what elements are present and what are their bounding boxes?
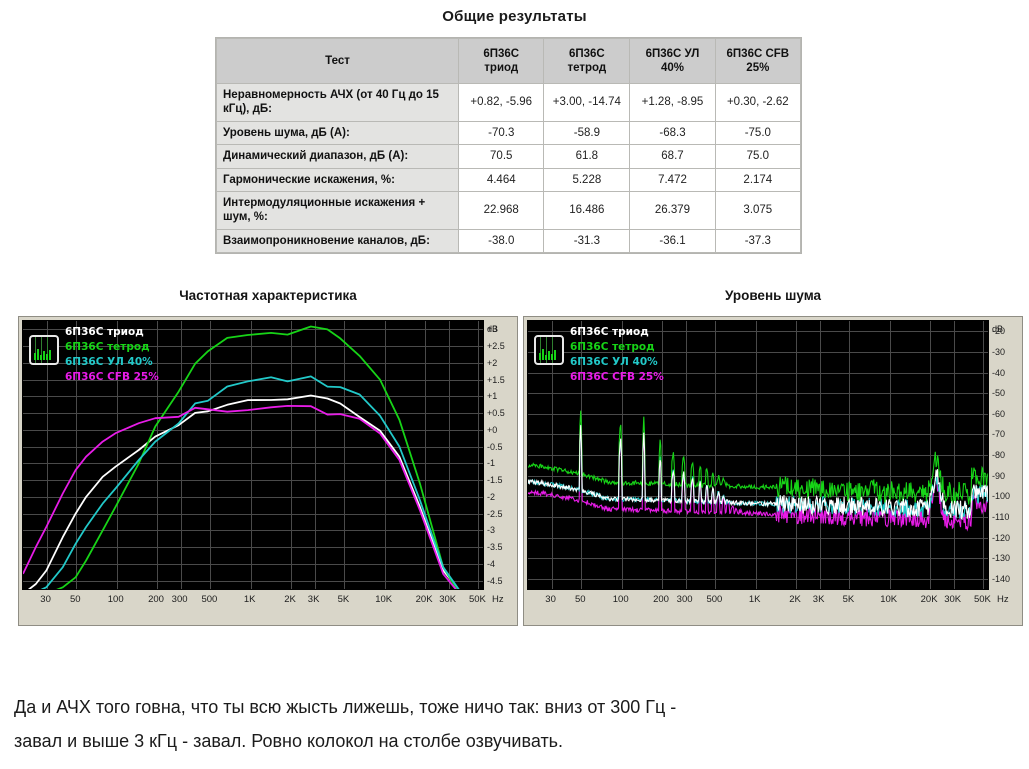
row-value: -38.0: [459, 229, 544, 252]
row-value: -68.3: [630, 121, 715, 144]
x-axis-tick: 30K: [439, 594, 456, 605]
curve-0: [23, 396, 473, 590]
legend-item-ul40: 6П36С УЛ 40%: [65, 355, 159, 370]
row-label: Взаимопроникновение каналов, дБ:: [217, 229, 459, 252]
x-axis-tick: 50K: [974, 594, 991, 605]
row-value: +0.82, -5.96: [459, 84, 544, 122]
column-header-ul40: 6П36С УЛ 40%: [630, 39, 715, 84]
row-label: Неравномерность АЧХ (от 40 Гц до 15 кГц)…: [217, 84, 459, 122]
column-header-tetrod: 6П36С тетрод: [544, 39, 630, 84]
chart-legend: 6П36С триод 6П36С тетрод 6П36С УЛ 40% 6П…: [534, 325, 664, 385]
chart-panel-noise-level: 6П36С триод 6П36С тетрод 6П36С УЛ 40% 6П…: [523, 316, 1023, 626]
y-axis-tick: -90: [992, 471, 1005, 481]
y-axis-tick: +3: [487, 324, 497, 334]
row-label: Динамический диапазон, дБ (А):: [217, 145, 459, 168]
x-axis-tick: 10K: [880, 594, 897, 605]
row-label: Гармонические искажения, %:: [217, 168, 459, 191]
results-table-wrap: Тест 6П36С триод 6П36С тетрод 6П36С УЛ 4…: [216, 38, 801, 253]
x-axis-tick: 30: [40, 594, 51, 605]
row-value: 22.968: [459, 191, 544, 229]
chart-title-noise-level: Уровень шума: [523, 288, 1023, 303]
x-axis-tick: 5K: [338, 594, 350, 605]
row-value: 5.228: [544, 168, 630, 191]
table-body: Неравномерность АЧХ (от 40 Гц до 15 кГц)…: [217, 84, 801, 253]
y-axis-tick: -60: [992, 409, 1005, 419]
y-axis-tick: -20: [992, 326, 1005, 336]
x-axis-tick: 200: [148, 594, 164, 605]
y-axis-tick: +0.5: [487, 408, 505, 418]
chart-legend: 6П36С триод 6П36С тетрод 6П36С УЛ 40% 6П…: [29, 325, 159, 385]
page-root: Общие результаты Тест 6П36С триод 6П36С …: [0, 0, 1029, 769]
y-axis-tick: -1.5: [487, 475, 503, 485]
x-axis-unit: Hz: [997, 594, 1009, 605]
caption-line-1: Да и АЧХ того говна, что ты всю жысть ли…: [14, 690, 1014, 724]
spectrum-2: [528, 425, 988, 519]
y-axis-tick: -0.5: [487, 442, 503, 452]
plot-row: 6П36С триод 6П36С тетрод 6П36С УЛ 40% 6П…: [22, 320, 514, 590]
x-axis-tick: 500: [706, 594, 722, 605]
x-axis-frequency-response: 30501002003005001K2K3K5K10K20K30K50KHz: [22, 590, 514, 612]
row-label: Уровень шума, дБ (А):: [217, 121, 459, 144]
y-axis-tick: -4: [487, 559, 495, 569]
x-axis-tick: 20K: [921, 594, 938, 605]
y-axis-tick: -70: [992, 429, 1005, 439]
x-axis-tick: 5K: [843, 594, 855, 605]
y-axis-tick: -80: [992, 450, 1005, 460]
caption-line-2: завал и выше 3 кГц - завал. Ровно колоко…: [14, 724, 1014, 758]
x-axis-tick: 1K: [244, 594, 256, 605]
x-axis-tick: 50: [70, 594, 81, 605]
column-header-cfb25: 6П36С CFB 25%: [715, 39, 800, 84]
table-row: Уровень шума, дБ (А): -70.3 -58.9 -68.3 …: [217, 121, 801, 144]
row-value: +1.28, -8.95: [630, 84, 715, 122]
legend-item-triod: 6П36С триод: [570, 325, 664, 340]
row-value: -31.3: [544, 229, 630, 252]
caption-text: Да и АЧХ того говна, что ты всю жысть ли…: [14, 690, 1014, 758]
y-axis-frequency-response: dB+3+2.5+2+1.5+1+0.5+0-0.5-1-1.5-2-2.5-3…: [484, 320, 514, 590]
legend-item-ul40: 6П36С УЛ 40%: [570, 355, 664, 370]
table-header-row: Тест 6П36С триод 6П36С тетрод 6П36С УЛ 4…: [217, 39, 801, 84]
table-row: Взаимопроникновение каналов, дБ: -38.0 -…: [217, 229, 801, 252]
y-axis-tick: -130: [992, 553, 1010, 563]
curve-2: [23, 376, 473, 589]
chart-title-frequency-response: Частотная характеристика: [18, 288, 518, 303]
y-axis-tick: -120: [992, 533, 1010, 543]
spectrum-1: [528, 411, 988, 505]
row-value: -58.9: [544, 121, 630, 144]
legend-item-triod: 6П36С триод: [65, 325, 159, 340]
row-value: 26.379: [630, 191, 715, 229]
x-axis-tick: 300: [172, 594, 188, 605]
legend-item-tetrod: 6П36С тетрод: [65, 340, 159, 355]
row-value: 4.464: [459, 168, 544, 191]
y-axis-tick: -3: [487, 525, 495, 535]
x-axis-tick: 30K: [944, 594, 961, 605]
x-axis-tick: 10K: [375, 594, 392, 605]
y-axis-tick: +2: [487, 358, 497, 368]
x-axis-tick: 2K: [789, 594, 801, 605]
results-table: Тест 6П36С триод 6П36С тетрод 6П36С УЛ 4…: [216, 38, 801, 253]
legend-items: 6П36С триод 6П36С тетрод 6П36С УЛ 40% 6П…: [65, 325, 159, 385]
y-axis-tick: +2.5: [487, 341, 505, 351]
y-axis-tick: -4.5: [487, 576, 503, 586]
row-label: Интермодуляционные искажения + шум, %:: [217, 191, 459, 229]
row-value: 16.486: [544, 191, 630, 229]
legend-item-cfb25: 6П36С CFB 25%: [570, 370, 664, 385]
row-value: 7.472: [630, 168, 715, 191]
row-value: 70.5: [459, 145, 544, 168]
x-axis-tick: 20K: [416, 594, 433, 605]
y-axis-tick: +0: [487, 425, 497, 435]
y-axis-tick: -2.5: [487, 509, 503, 519]
table-row: Гармонические искажения, %: 4.464 5.228 …: [217, 168, 801, 191]
x-axis-noise-level: 30501002003005001K2K3K5K10K20K30K50KHz: [527, 590, 1019, 612]
plot-row: 6П36С триод 6П36С тетрод 6П36С УЛ 40% 6П…: [527, 320, 1019, 590]
row-value: +0.30, -2.62: [715, 84, 800, 122]
y-axis-tick: -2: [487, 492, 495, 502]
y-axis-tick: -40: [992, 368, 1005, 378]
column-header-triod: 6П36С триод: [459, 39, 544, 84]
row-value: -70.3: [459, 121, 544, 144]
x-axis-tick: 200: [653, 594, 669, 605]
x-axis-tick: 100: [108, 594, 124, 605]
row-value: 75.0: [715, 145, 800, 168]
y-axis-tick: -110: [992, 512, 1009, 522]
row-value: -36.1: [630, 229, 715, 252]
x-axis-tick: 3K: [813, 594, 825, 605]
table-row: Неравномерность АЧХ (от 40 Гц до 15 кГц)…: [217, 84, 801, 122]
row-value: 61.8: [544, 145, 630, 168]
legend-item-tetrod: 6П36С тетрод: [570, 340, 664, 355]
x-axis-tick: 2K: [284, 594, 296, 605]
row-value: +3.00, -14.74: [544, 84, 630, 122]
row-value: 2.174: [715, 168, 800, 191]
y-axis-tick: -3.5: [487, 542, 503, 552]
legend-items: 6П36С триод 6П36С тетрод 6П36С УЛ 40% 6П…: [570, 325, 664, 385]
y-axis-tick: -140: [992, 574, 1010, 584]
plot-area-noise-level[interactable]: 6П36С триод 6П36С тетрод 6П36С УЛ 40% 6П…: [527, 320, 989, 590]
curve-3: [23, 406, 473, 589]
legend-item-cfb25: 6П36С CFB 25%: [65, 370, 159, 385]
row-value: 3.075: [715, 191, 800, 229]
row-value: 68.7: [630, 145, 715, 168]
x-axis-unit: Hz: [492, 594, 504, 605]
spectrum-graph-icon: [534, 335, 564, 365]
y-axis-tick: -100: [992, 491, 1010, 501]
y-axis-tick: +1.5: [487, 375, 505, 385]
y-axis-noise-level: dB-20-30-40-50-60-70-80-90-100-110-120-1…: [989, 320, 1019, 590]
x-axis-tick: 50: [575, 594, 586, 605]
x-axis-tick: 300: [677, 594, 693, 605]
chart-panel-frequency-response: 6П36С триод 6П36С тетрод 6П36С УЛ 40% 6П…: [18, 316, 518, 626]
table-row: Интермодуляционные искажения + шум, %: 2…: [217, 191, 801, 229]
x-axis-tick: 1K: [749, 594, 761, 605]
column-header-test: Тест: [217, 39, 459, 84]
results-table-title: Общие результаты: [0, 8, 1029, 25]
row-value: -75.0: [715, 121, 800, 144]
x-axis-tick: 30: [545, 594, 556, 605]
y-axis-tick: -1: [487, 458, 495, 468]
y-axis-tick: +1: [487, 391, 497, 401]
table-row: Динамический диапазон, дБ (А): 70.5 61.8…: [217, 145, 801, 168]
x-axis-tick: 3K: [308, 594, 320, 605]
y-axis-tick: -50: [992, 388, 1005, 398]
x-axis-tick: 50K: [469, 594, 486, 605]
plot-area-frequency-response[interactable]: 6П36С триод 6П36С тетрод 6П36С УЛ 40% 6П…: [22, 320, 484, 590]
x-axis-tick: 100: [613, 594, 629, 605]
row-value: -37.3: [715, 229, 800, 252]
spectrum-graph-icon: [29, 335, 59, 365]
y-axis-tick: -30: [992, 347, 1005, 357]
x-axis-tick: 500: [201, 594, 217, 605]
